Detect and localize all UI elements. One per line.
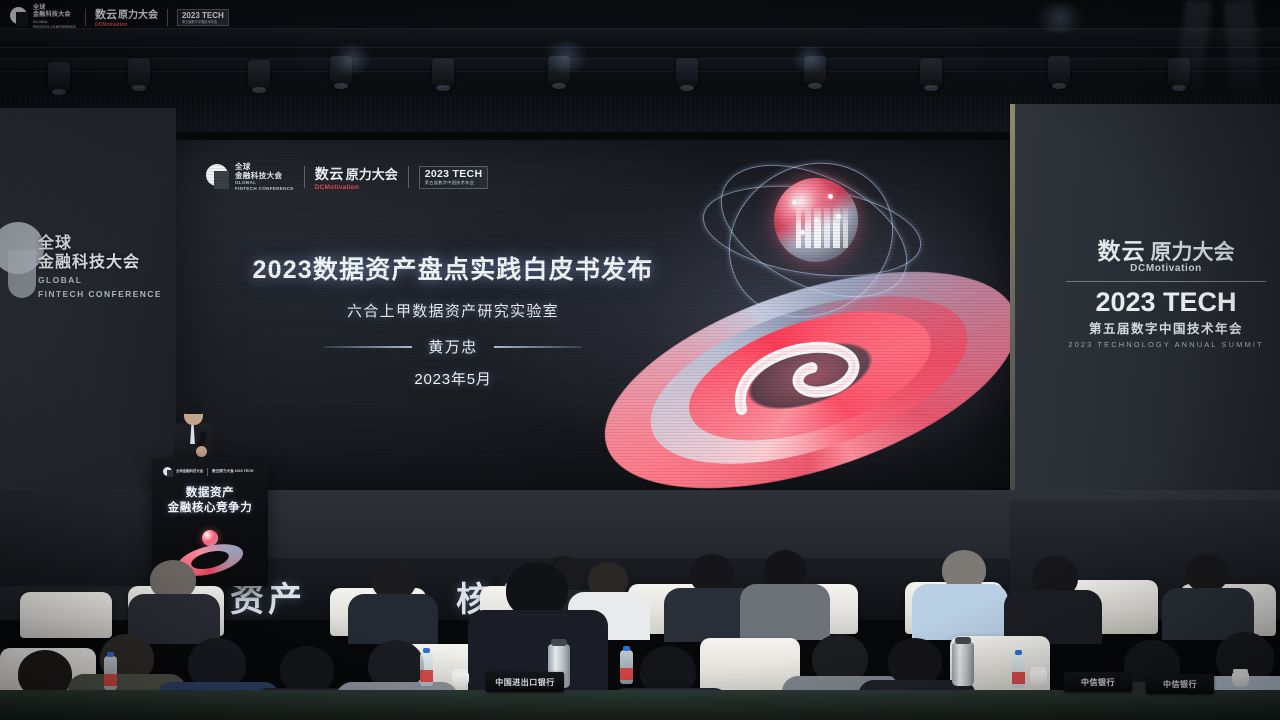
right-wall-cn-sub: 第五届数字中国技术年会 bbox=[1062, 318, 1270, 337]
slide-date: 2023年5月 bbox=[238, 368, 668, 389]
lockup-gf-cn2: 金融科技大会 bbox=[235, 171, 294, 180]
watermark-fintech-mark-icon bbox=[10, 7, 29, 27]
light-beam bbox=[1174, 0, 1212, 97]
lockup-dc-en: DCMotivation bbox=[315, 184, 398, 191]
lockup-badge-year: 2023 TECH bbox=[425, 169, 483, 180]
right-wall-year-title: 2023 TECH bbox=[1062, 288, 1270, 316]
watermark-divider-2 bbox=[167, 9, 168, 26]
light-beam bbox=[1224, 0, 1263, 105]
podium-title-line2: 金融核心竞争力 bbox=[152, 501, 268, 516]
left-wall-en-line1: GLOBAL bbox=[38, 275, 162, 286]
podium-title: 数据资产 金融核心竞争力 bbox=[152, 486, 268, 516]
logo-tech-badge: 2023 TECH 第五届数字中国技术年会 bbox=[419, 166, 489, 189]
left-wall-branding: 全球 金融科技大会 GLOBAL FINTECH CONFERENCE bbox=[38, 234, 162, 300]
right-wall-branding: 数云 原力大会 DCMotivation 2023 TECH 第五届数字中国技术… bbox=[1062, 232, 1270, 349]
tea-cup bbox=[452, 672, 469, 687]
slide-rule-right bbox=[494, 346, 582, 348]
tea-cup bbox=[1030, 670, 1047, 685]
watermark-gf-en2: FINTECH CONFERENCE bbox=[33, 25, 76, 30]
logo-global-fintech: 全球 金融科技大会 GLOBAL FINTECH CONFERENCE bbox=[206, 162, 294, 192]
right-wall-en-brand: DCMotivation bbox=[1062, 263, 1270, 274]
glass-sphere-icon bbox=[774, 178, 858, 262]
presenter-hand bbox=[196, 446, 207, 457]
watermark-gf-cn2: 金融科技大会 bbox=[33, 12, 76, 19]
lockup-divider bbox=[304, 166, 305, 188]
main-led-screen: 全球 金融科技大会 GLOBAL FINTECH CONFERENCE 数云 原… bbox=[176, 140, 1010, 490]
slide-title: 2023数据资产盘点实践白皮书发布 bbox=[238, 250, 668, 286]
thermos-flask bbox=[952, 642, 974, 686]
water-bottle bbox=[104, 656, 117, 690]
conference-stage-scene: 全球 金融科技大会 GLOBAL FINTECH CONFERENCE 数云 原… bbox=[0, 0, 1280, 720]
truss-beam-1 bbox=[0, 28, 1280, 48]
watermark-dc-yuan: 原力大会 bbox=[118, 6, 158, 21]
watermark-dc-motivation: 数云 原力大会 DCMotivation bbox=[95, 6, 158, 28]
lockup-dc-yuan: 原力大会 bbox=[346, 164, 398, 183]
truss-beam-2 bbox=[0, 58, 1280, 72]
right-wall-shu: 数云 bbox=[1098, 232, 1146, 266]
watermark-badge-year: 2023 TECH bbox=[182, 11, 224, 20]
logo-dc-motivation: 数云 原力大会 DCMotivation bbox=[315, 164, 398, 191]
fintech-mark-icon bbox=[206, 164, 230, 190]
stage-light bbox=[48, 62, 70, 92]
screen-logo-lockup: 全球 金融科技大会 GLOBAL FINTECH CONFERENCE 数云 原… bbox=[206, 162, 488, 192]
slide-subtitle-org: 六合上甲数据资产研究实验室 bbox=[238, 300, 668, 321]
red-spiral-sphere-orbit-graphic bbox=[606, 170, 1010, 488]
left-wall-cn-line1: 全球 bbox=[38, 234, 162, 253]
table-name-card: 中信银行 bbox=[1146, 674, 1214, 694]
chair bbox=[20, 592, 112, 638]
table-name-card: 中信银行 bbox=[1064, 672, 1132, 692]
water-bottle bbox=[420, 652, 433, 686]
lockup-gf-cn1: 全球 bbox=[235, 162, 294, 171]
left-wall-cn-line2: 金融科技大会 bbox=[38, 253, 162, 272]
podium-title-line1: 数据资产 bbox=[152, 486, 268, 501]
water-bottle bbox=[1012, 654, 1025, 688]
slide-speaker-name: 黄万忠 bbox=[428, 336, 478, 357]
presenter-figure bbox=[172, 404, 214, 464]
table-name-card: 中国进出口银行 bbox=[486, 672, 564, 692]
stage-light bbox=[920, 58, 942, 88]
stage-light bbox=[676, 58, 698, 88]
podium-logo-gf: 全球金融科技大会 bbox=[176, 469, 203, 473]
light-glow bbox=[1030, 4, 1090, 32]
lockup-gf-en2: FINTECH CONFERENCE bbox=[235, 186, 294, 192]
watermark-badge-sub: 第五届数字中国技术年会 bbox=[182, 20, 224, 25]
stage-light bbox=[248, 60, 270, 90]
watermark-divider bbox=[85, 9, 86, 26]
slide-speaker-row: 黄万忠 bbox=[238, 336, 668, 357]
right-wall-divider bbox=[1066, 281, 1266, 282]
light-glow bbox=[330, 44, 374, 74]
left-wall-en-line2: FINTECH CONFERENCE bbox=[38, 289, 162, 300]
watermark-global-fintech: 全球 金融科技大会 GLOBAL FINTECH CONFERENCE bbox=[10, 5, 76, 30]
lockup-badge-sub: 第五届数字中国技术年会 bbox=[425, 180, 483, 186]
right-wall-en-sub: 2023 TECHNOLOGY ANNUAL SUMMIT bbox=[1062, 340, 1270, 349]
podium-fintech-mark-icon bbox=[163, 467, 172, 476]
light-glow bbox=[540, 42, 592, 72]
watermark-dc-shu: 数云 bbox=[95, 6, 117, 22]
podium-logo-lockup: 全球金融科技大会 数云原力大会 2023 TECH bbox=[163, 467, 253, 476]
front-table bbox=[0, 690, 1280, 720]
right-wall-yuan: 原力大会 bbox=[1151, 236, 1235, 266]
lockup-dc-shu: 数云 bbox=[315, 164, 344, 184]
stage-light bbox=[432, 58, 454, 88]
lockup-divider-2 bbox=[408, 166, 409, 188]
tea-cup bbox=[1232, 672, 1249, 687]
watermark-tech-badge: 2023 TECH 第五届数字中国技术年会 bbox=[177, 9, 229, 27]
water-bottle bbox=[620, 650, 633, 684]
presenter-hair bbox=[183, 403, 204, 414]
watermark-dc-en: DCMotivation bbox=[95, 22, 158, 28]
broadcast-watermark: 全球 金融科技大会 GLOBAL FINTECH CONFERENCE 数云 原… bbox=[10, 5, 229, 30]
podium-logo-divider bbox=[207, 468, 208, 476]
light-glow bbox=[790, 46, 830, 72]
slide-rule-left bbox=[324, 346, 412, 348]
stage-light bbox=[1048, 56, 1070, 86]
stage-light bbox=[128, 58, 150, 88]
podium-logo-dc: 数云原力大会 2023 TECH bbox=[212, 469, 253, 474]
